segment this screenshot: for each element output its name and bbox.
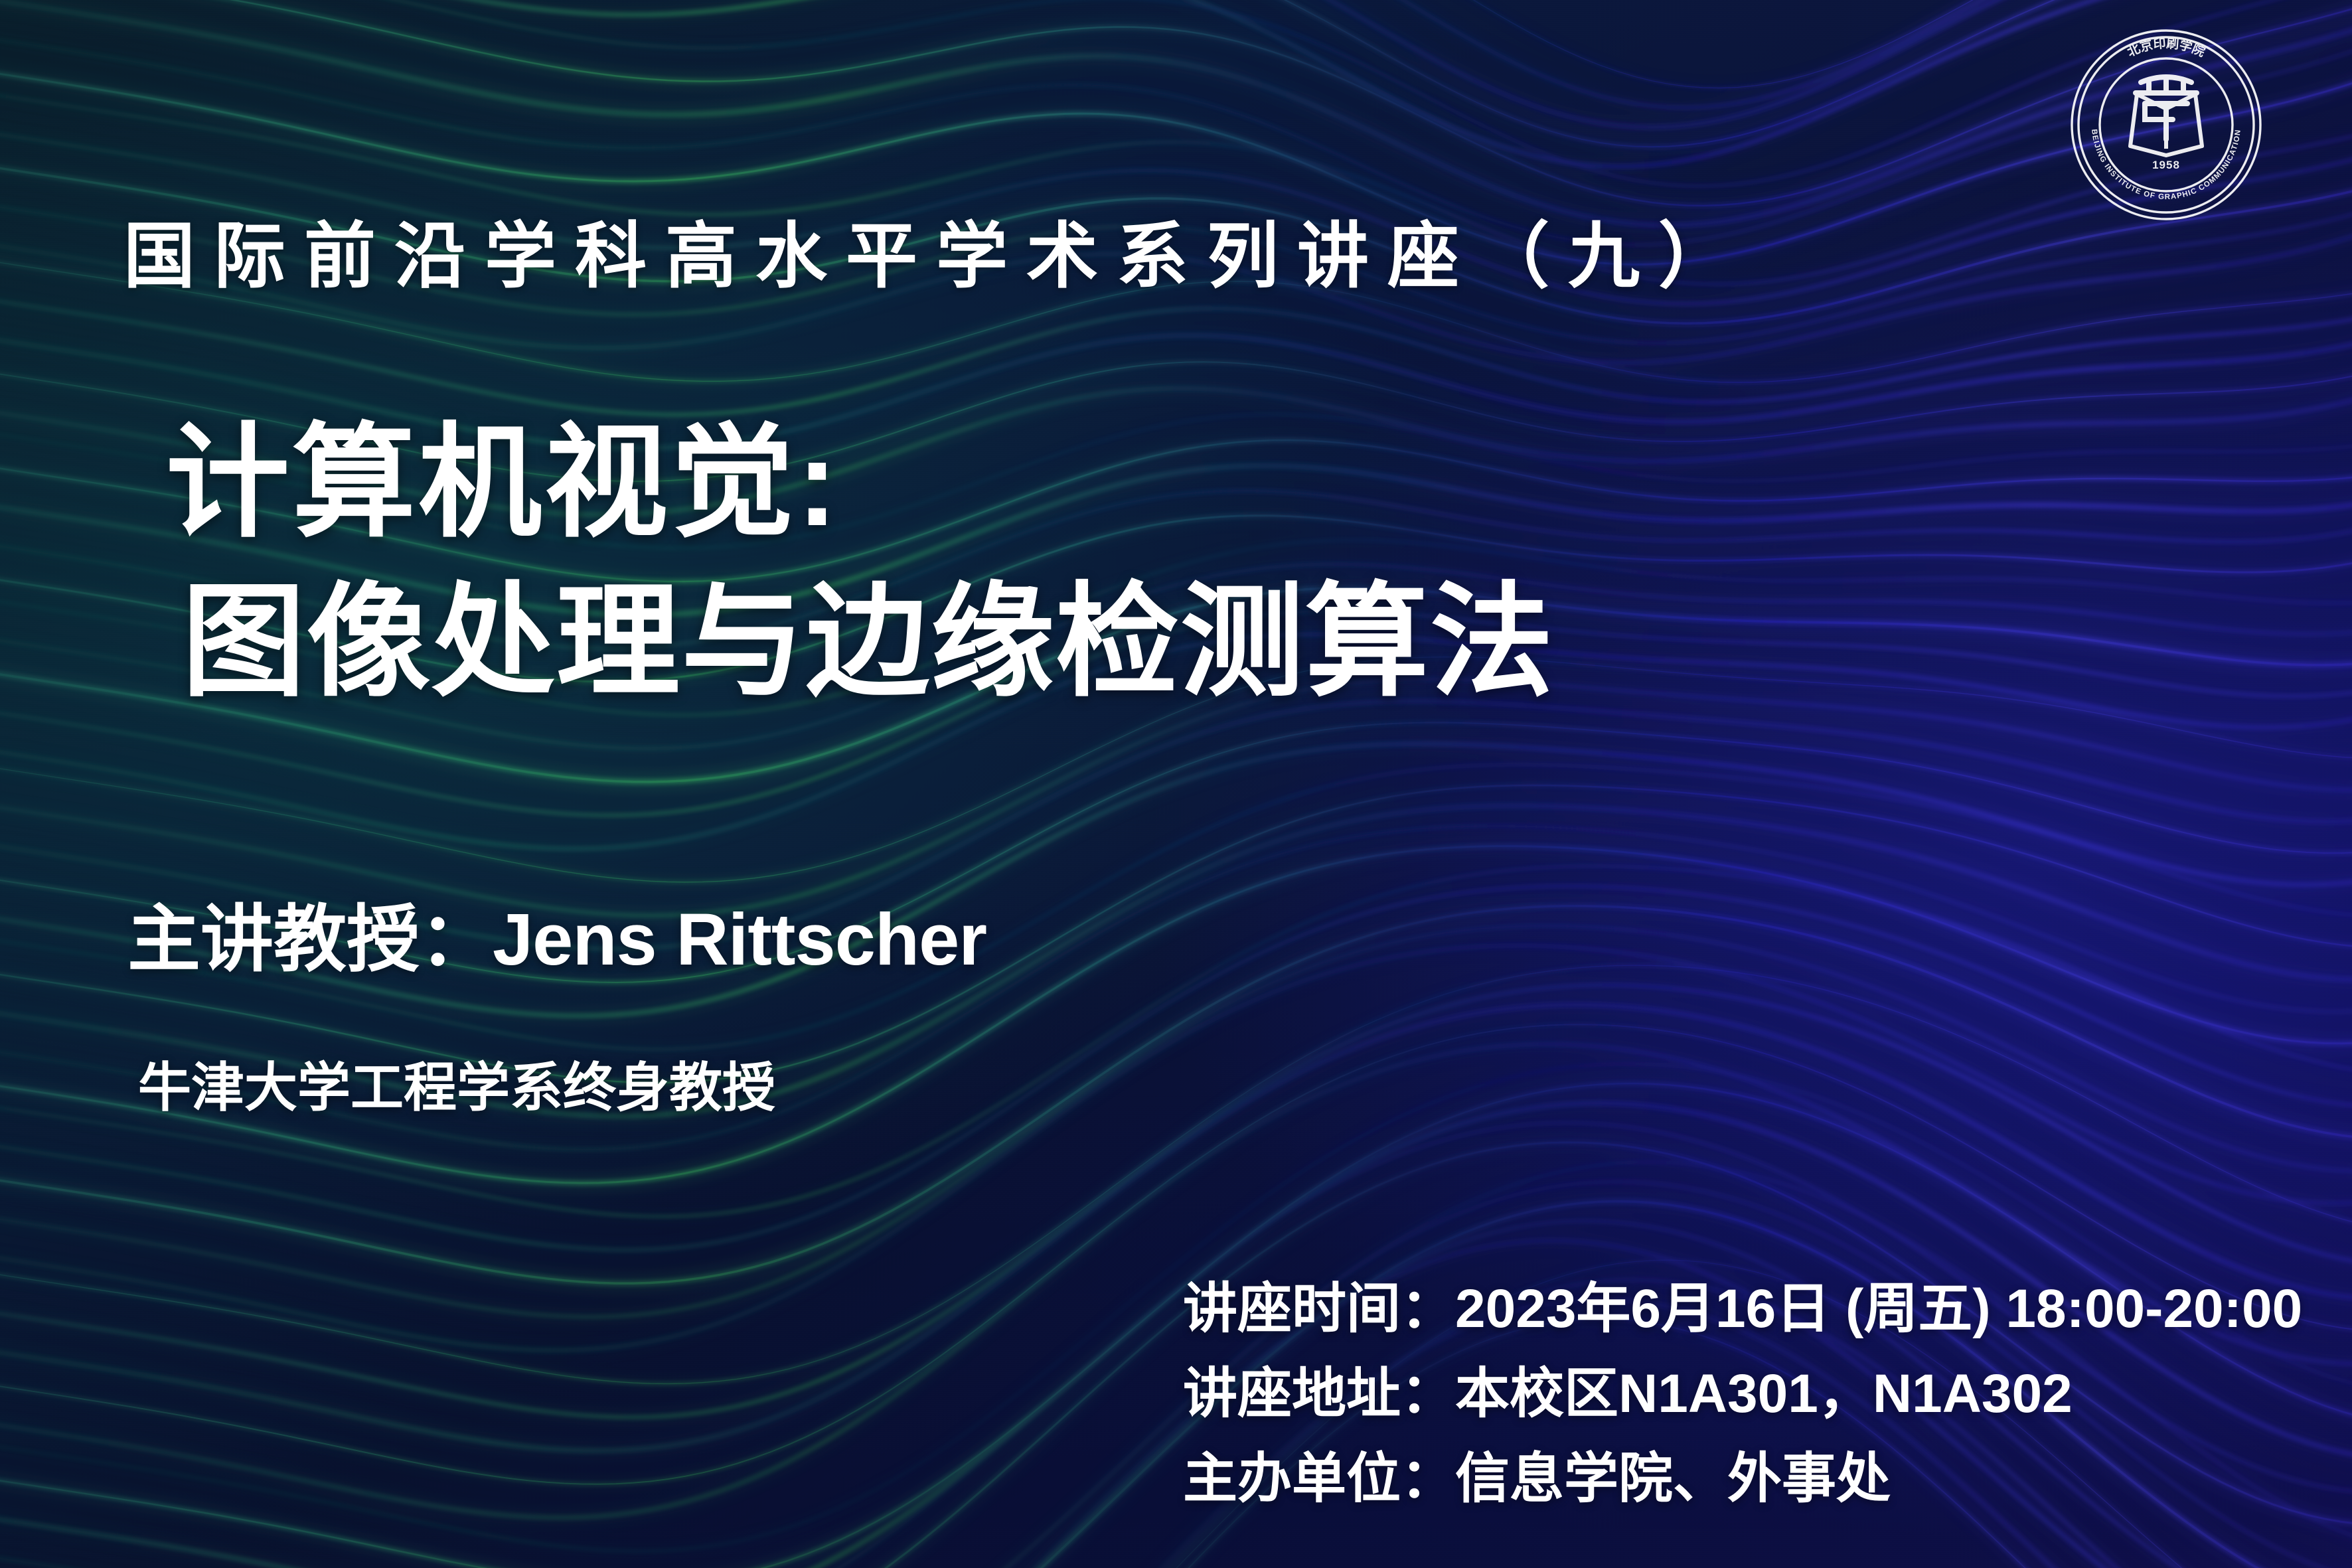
speaker-label: 主讲教授： [127,899,493,980]
info-label-time: 讲座时间： [1183,1279,1455,1339]
svg-text:1958: 1958 [2152,159,2180,171]
lecture-info-block: 讲座时间：2023年6月16日 (周五) 18:00-20:00 讲座地址：本校… [1183,1267,2302,1522]
info-row-time: 讲座时间：2023年6月16日 (周五) 18:00-20:00 [1183,1267,2302,1352]
speaker-line: 主讲教授：Jens Rittscher [127,900,986,980]
speaker-name: Jens Rittscher [493,899,986,980]
info-label-location: 讲座地址： [1183,1364,1455,1424]
lecture-title: 计算机视觉: 图像处理与边缘检测算法 [166,404,1555,722]
info-value-time: 2023年6月16日 (周五) 18:00-20:00 [1455,1279,2302,1339]
info-row-location: 讲座地址：本校区N1A301，N1A302 [1183,1352,2302,1437]
svg-text:北京印刷学院: 北京印刷学院 [2125,37,2207,60]
info-label-organizer: 主办单位： [1183,1449,1455,1509]
lecture-poster: 北京印刷学院 BEIJING INSTITUTE OF GRAPHIC COMM… [0,0,2352,1568]
lecture-title-line-1: 计算机视觉: [166,404,1555,563]
speaker-affiliation: 牛津大学工程学系终身教授 [138,1059,775,1117]
poster-content-layer: 北京印刷学院 BEIJING INSTITUTE OF GRAPHIC COMM… [0,0,2352,1568]
info-row-organizer: 主办单位：信息学院、外事处 [1183,1437,2302,1522]
series-title: 国际前沿学科高水平学术系列讲座（九） [123,220,1749,292]
university-seal-logo: 北京印刷学院 BEIJING INSTITUTE OF GRAPHIC COMM… [2067,25,2266,224]
info-value-organizer: 信息学院、外事处 [1455,1449,1891,1509]
info-value-location: 本校区N1A301，N1A302 [1455,1364,2073,1424]
lecture-title-line-2: 图像处理与边缘检测算法 [182,563,1555,722]
